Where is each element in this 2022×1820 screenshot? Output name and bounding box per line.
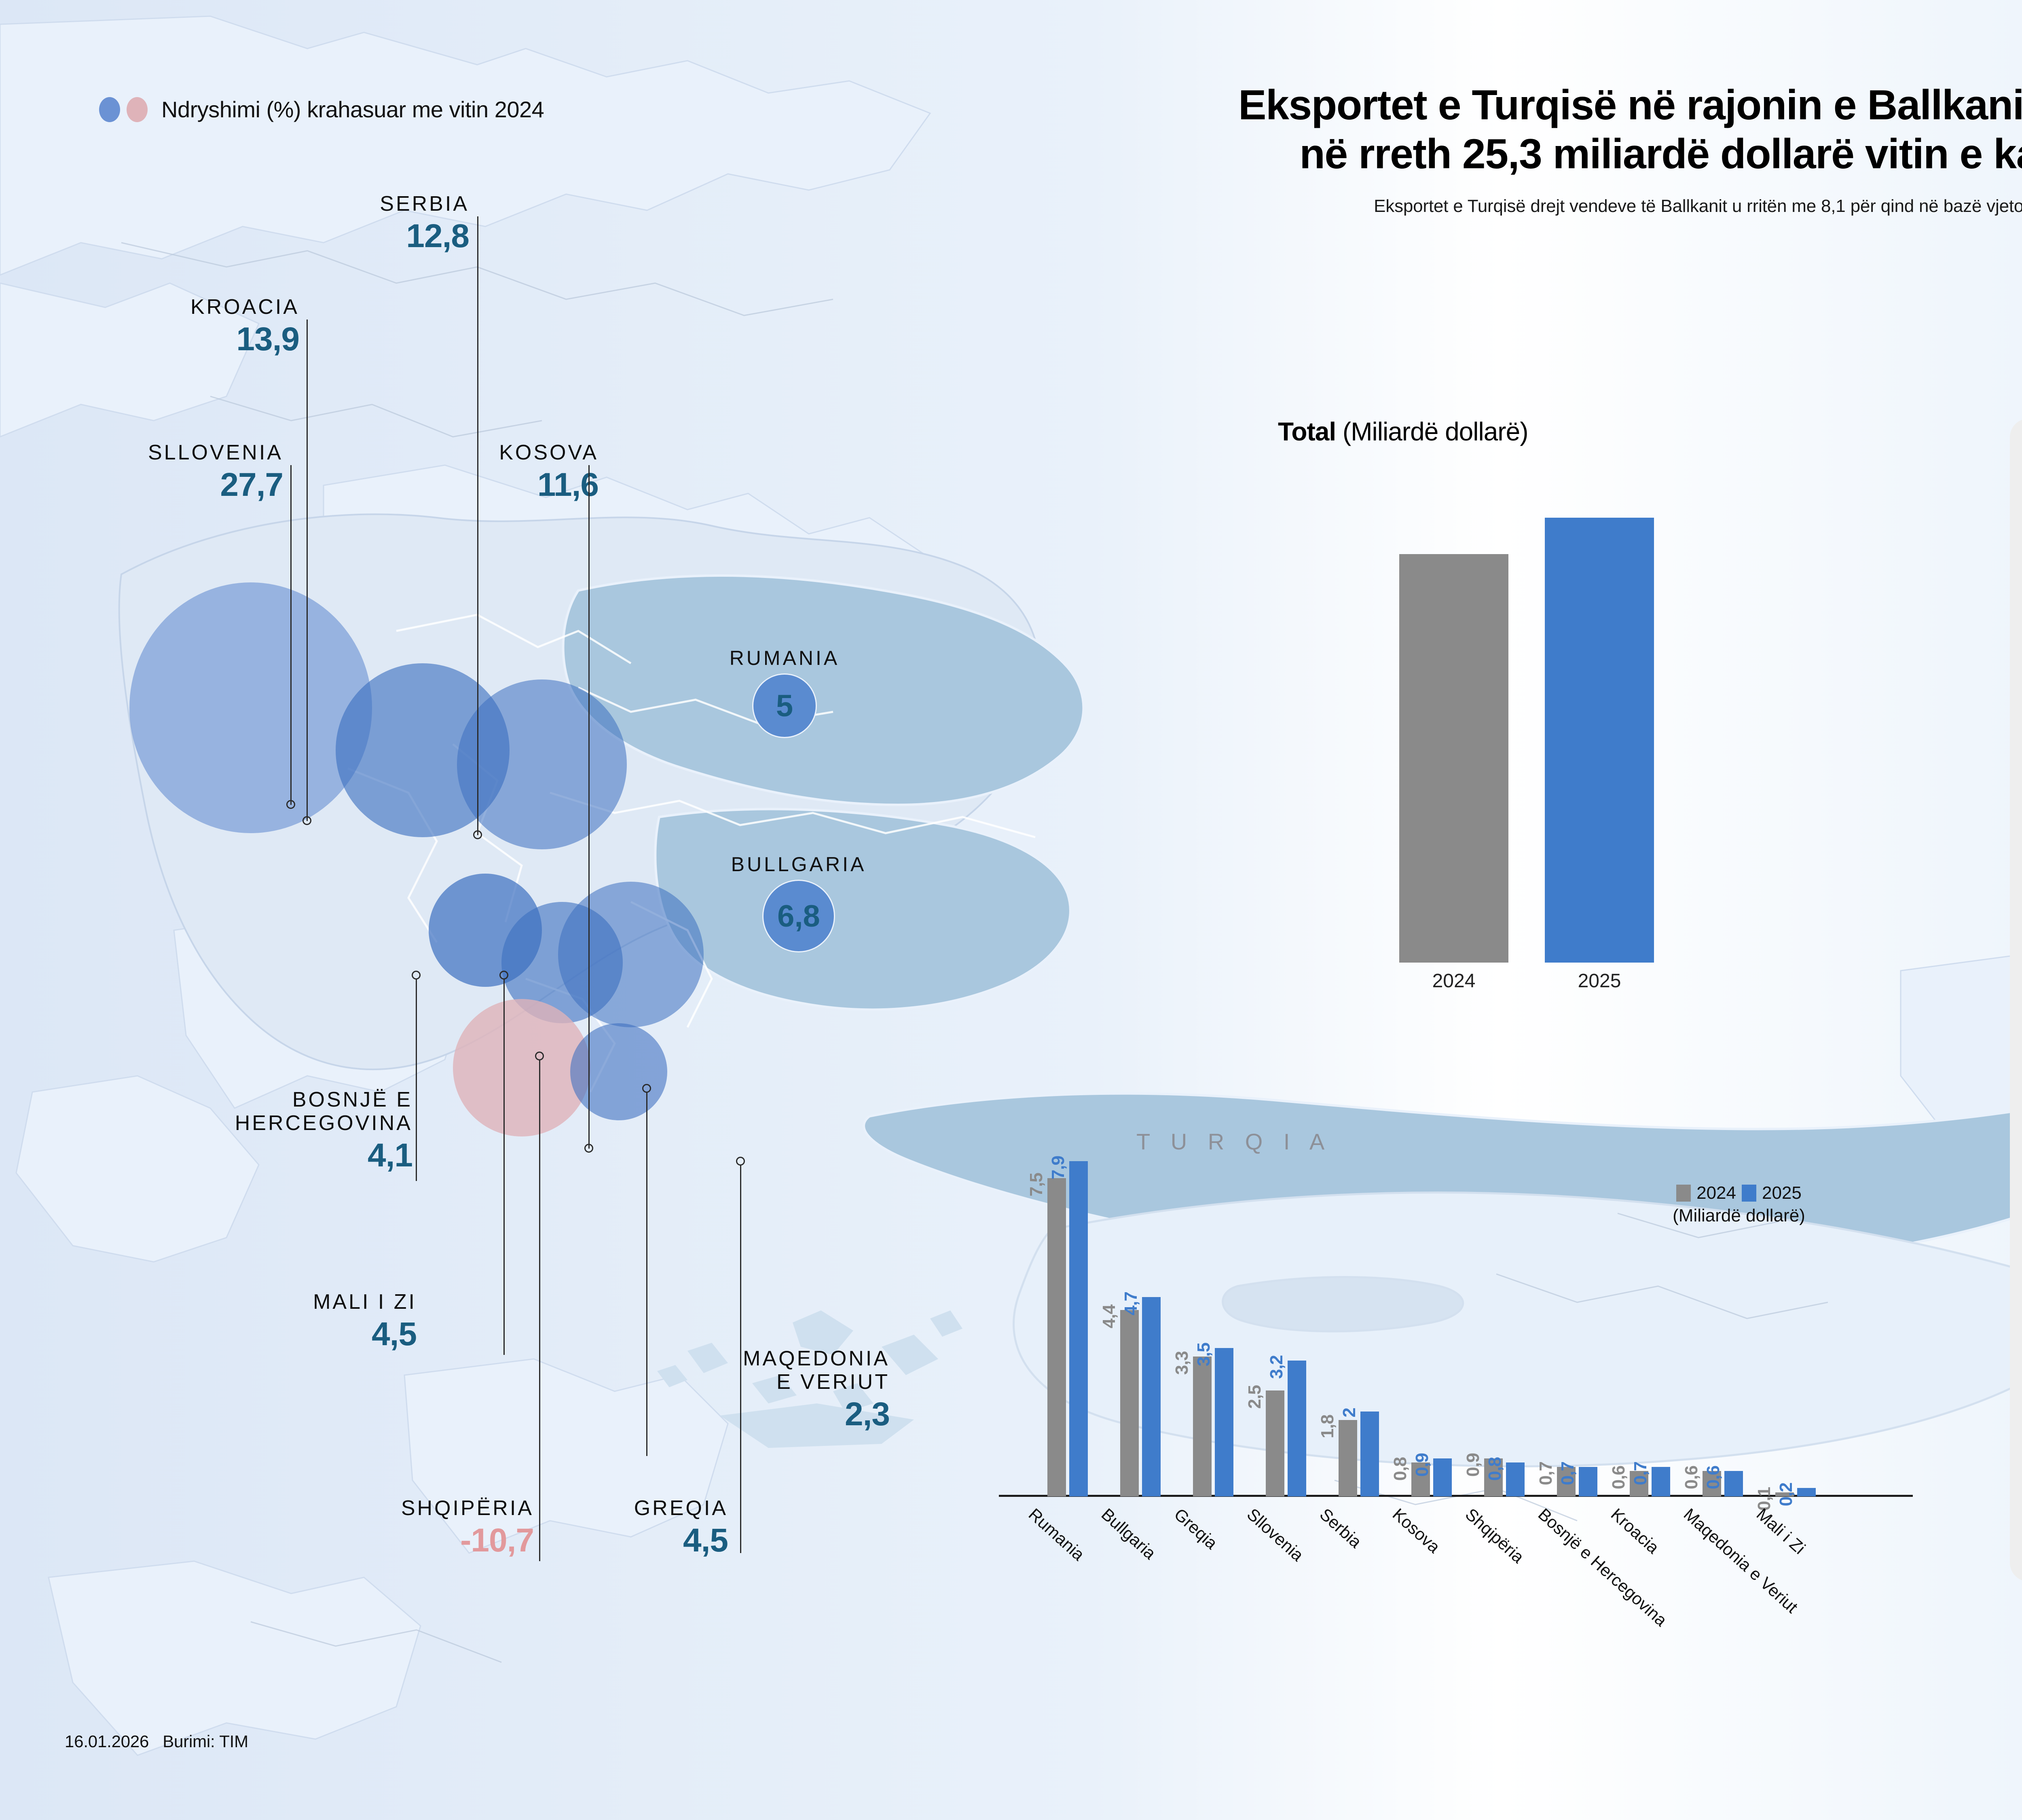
callout-sllovenia: SLLOVENIA 27,7 [40,441,283,504]
legend-swatch-2025-icon [1742,1185,1756,1202]
page-title: Eksportet e Turqisë në rajonin e Ballkan… [1035,81,2022,178]
country-bar-group: 0,80,9 [1411,1458,1452,1496]
callout-name: BOSNJË E HERCEGOVINA [129,1088,412,1135]
bar-2025: 0,7 [1579,1467,1597,1496]
country-bar-group: 3,33,5 [1193,1348,1233,1496]
x-axis-tick-label: Sllovenia [1243,1505,1307,1565]
bar-2025: 4,7 [1142,1297,1161,1496]
callout-value: 4,1 [129,1136,412,1175]
bar-2024: 3,3 [1193,1357,1212,1496]
bar-2025: 0,8 [1506,1462,1525,1496]
callout-kroacia: KROACIA 13,9 [101,295,299,358]
legend-dot-negative-icon [127,97,148,122]
country-bar-group: 4,44,7 [1120,1297,1161,1496]
mapchip-bullgaria: BULLGARIA 6,8 [663,853,934,952]
country-bar-group: 0,70,7 [1557,1467,1597,1496]
country-bar-group: 7,57,9 [1047,1161,1088,1496]
bar-2025: 0,7 [1652,1467,1670,1496]
footer-date: 16.01.2026 [65,1732,149,1751]
page-subtitle: Eksportet e Turqisë drejt vendeve të Bal… [1035,196,2022,216]
callout-value: -10,7 [243,1522,534,1560]
x-axis-tick-label: Rumania [1025,1505,1088,1564]
legend-label-2025: 2025 [1762,1183,1802,1203]
callout-maqedonia-e-veriut: MAQEDONIA E VERIUT 2,3 [655,1347,890,1433]
legend-dot-positive-icon [99,97,120,122]
callout-value: 4,5 [574,1522,728,1560]
bubble-serbia [457,679,627,849]
bar-2025: 7,9 [1069,1161,1088,1496]
bar-value-label: 7,9 [1058,1147,1079,1170]
leader-line-serbia [477,216,478,835]
bar-2025: 3,5 [1215,1348,1233,1496]
callout-value: 11,6 [429,466,599,504]
bar-value-label: 0,8 [1495,1448,1515,1472]
leader-dot-greqia [736,1157,745,1166]
x-axis-tick-label: Kosova [1389,1505,1444,1557]
bar-value-label: 4,7 [1131,1283,1151,1306]
country-bar-group: 0,90,8 [1484,1458,1525,1496]
x-axis-tick-label: Serbia [1316,1505,1365,1552]
mapchip-value: 5 [776,688,793,724]
callout-greqia: GREQIA 4,5 [574,1496,728,1560]
total-bar-category: 2024 [1432,970,1476,992]
leader-line-kosova [588,465,590,1149]
bar-2024: 2,5 [1266,1390,1284,1496]
bar-value-label: 3,2 [1277,1346,1297,1370]
bar-2024: 7,5 [1047,1178,1066,1496]
bar-2025: 3,2 [1288,1361,1306,1496]
callout-name: KOSOVA [429,441,599,464]
mapchip-circle: 5 [752,673,817,738]
leader-line-sllovenia [290,465,292,805]
total-chart: Total (Miliardë dollarë) 23,3 2024 25,3 … [1278,417,1812,1039]
total-title-rest: (Miliardë dollarë) [1336,417,1528,446]
legend-label: Ndryshimi (%) krahasuar me vitin 2024 [161,96,544,123]
x-axis-tick-label: Mali i Zi [1753,1505,1809,1558]
callout-mali-i-zi: MALI I ZI 4,5 [210,1290,417,1353]
headline-block: Eksportet e Turqisë në rajonin e Ballkan… [1035,81,2022,216]
sector-panel: Sektoret që kryesuan në eksporte për vit… [2010,419,2022,1581]
leader-line-mali-i-zi [503,979,505,1355]
callout-name: MALI I ZI [210,1290,417,1314]
callout-value: 12,8 [279,217,469,255]
bar-value-label: 0,9 [1422,1444,1442,1468]
total-bar-2025: 25,3 2025 [1545,518,1654,963]
map-legend: Ndryshimi (%) krahasuar me vitin 2024 [99,96,544,123]
bar-value-label: 2,5 [1255,1376,1275,1400]
mapchip-name: BULLGARIA [663,853,934,876]
bubble-north-macedonia [570,1023,667,1120]
bar-value-label: 3,5 [1204,1334,1224,1357]
callout-name: SHQIPËRIA [243,1496,534,1520]
footer: 16.01.2026Burimi: TIM [65,1732,248,1751]
leader-dot-kroacia [302,816,311,825]
bar-value-label: 0,2 [1786,1474,1806,1497]
mapchip-value: 6,8 [777,899,820,934]
callout-value: 2,3 [655,1395,890,1433]
bubble-slovenia [129,582,372,833]
bar-2025: 0,6 [1724,1471,1743,1496]
infographic-canvas: Ndryshimi (%) krahasuar me vitin 2024 Ek… [0,0,2022,1820]
country-chart-legend: 2024 2025 (Miliardë dollarë) [1634,1183,1844,1226]
leader-dot-sllovenia [286,800,295,809]
footer-source: Burimi: TIM [163,1732,248,1751]
bar-value-label: 0,7 [1641,1453,1661,1476]
callout-name: MAQEDONIA E VERIUT [655,1347,890,1394]
leader-line-shqiperia [539,1060,540,1561]
mapchip-name: RUMANIA [649,647,920,669]
title-line-1: Eksportet e Turqisë në rajonin e Ballkan… [1238,82,2022,129]
leader-dot-mali-i-zi [499,971,508,980]
leader-dot-shqiperia [535,1052,544,1060]
callout-name: GREQIA [574,1496,728,1520]
leader-dot-maqedonia [642,1084,651,1093]
callout-name: KROACIA [101,295,299,319]
leader-dot-serbia [473,830,482,839]
x-axis-tick-label: Bullgaria [1098,1505,1160,1563]
legend-label-2024: 2024 [1696,1183,1736,1203]
bar-2024: 4,4 [1120,1310,1139,1496]
bar-value-label: 0,6 [1713,1457,1734,1480]
callout-serbia: SERBIA 12,8 [279,192,469,255]
callout-name: SLLOVENIA [40,441,283,464]
x-axis-tick-label: Kroacia [1607,1505,1663,1558]
x-axis-tick-label: Bosnjë e Hercegovina [1534,1505,1671,1630]
legend-unit: (Miliardë dollarë) [1634,1206,1844,1226]
bar-value-label: 0,7 [1568,1453,1588,1476]
bar-2025: 0,9 [1433,1458,1452,1496]
x-axis-tick-label: Greqia [1170,1505,1221,1553]
title-line-2: në rreth 25,3 miliardë dollarë vitin e k… [1299,131,2022,178]
callout-value: 27,7 [40,466,283,504]
callout-value: 13,9 [101,320,299,358]
mapchip-rumania: RUMANIA 5 [649,647,920,738]
callout-shqiperia: SHQIPËRIA -10,7 [243,1496,534,1560]
callout-kosova: KOSOVA 11,6 [429,441,599,504]
country-bar-group: 2,53,2 [1266,1361,1306,1496]
leader-line-kroacia [307,320,308,821]
legend-swatch-2024-icon [1676,1185,1691,1202]
bar-2025: 0,2 [1797,1488,1816,1496]
mapchip-circle: 6,8 [762,880,835,952]
total-chart-title: Total (Miliardë dollarë) [1278,417,1812,447]
leader-dot-bosnje [412,971,421,980]
callout-value: 4,5 [210,1315,417,1353]
country-bar-group: 0,10,2 [1775,1488,1816,1496]
total-bar-2024: 23,3 2024 [1399,554,1508,963]
x-axis-tick-label: Shqipëria [1462,1505,1528,1567]
leader-line-maqedonia [646,1092,647,1456]
bubble-albania [453,999,590,1136]
callout-name: SERBIA [279,192,469,216]
country-bar-group: 0,60,7 [1630,1467,1670,1496]
total-bar-value: 23,3 [1399,554,1444,651]
bar-2025: 2 [1360,1412,1379,1496]
country-bar-group: 1,82 [1339,1412,1379,1496]
total-bar-category: 2025 [1578,970,1621,992]
total-chart-plot: 23,3 2024 25,3 2025 [1375,489,1747,987]
bar-value-label: 2 [1349,1405,1370,1414]
leader-line-greqia [740,1165,741,1553]
total-title-bold: Total [1278,417,1336,446]
leader-line-bosnje [416,979,417,1181]
total-bar-value: 25,3 [1545,518,1589,615]
bar-2024: 1,8 [1339,1420,1357,1496]
country-bar-group: 0,60,6 [1703,1471,1743,1496]
leader-dot-kosova [584,1144,593,1153]
callout-bosnje-e-hercegovina: BOSNJË E HERCEGOVINA 4,1 [129,1088,412,1175]
